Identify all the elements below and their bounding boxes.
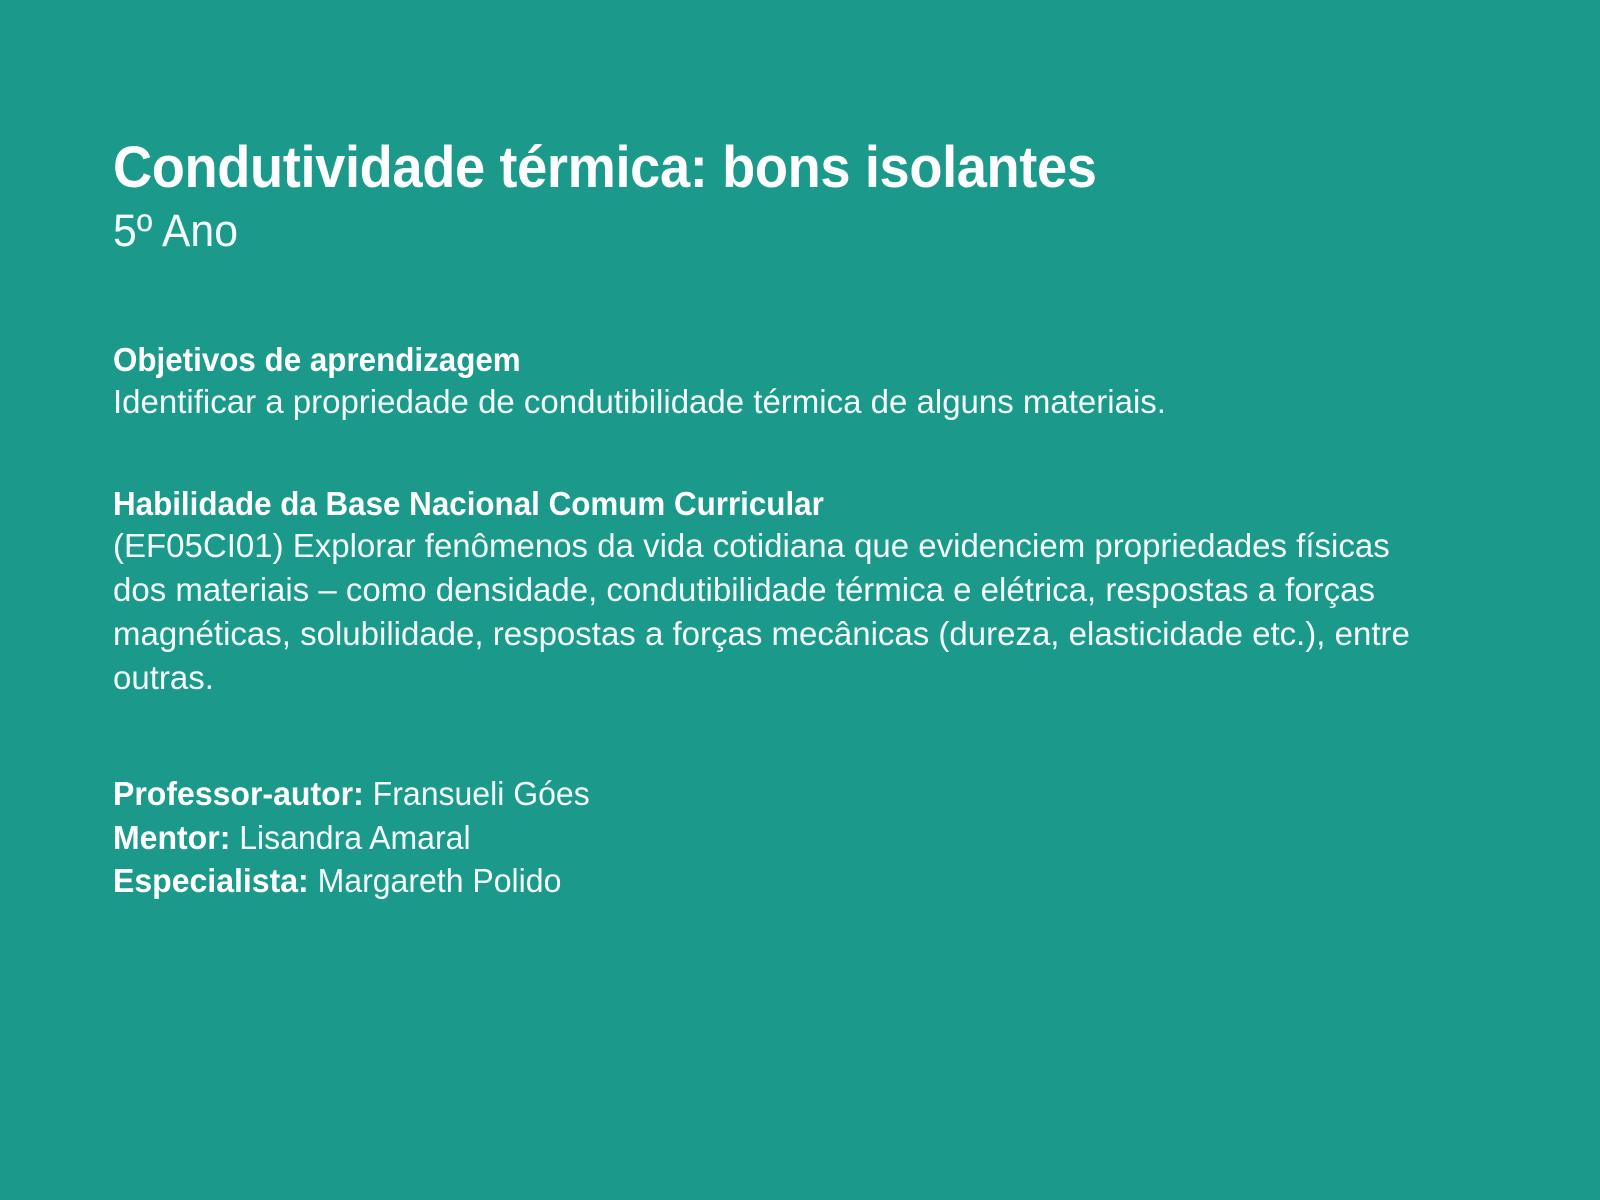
page-subtitle: 5º Ano — [113, 206, 1377, 256]
credit-value-professor-autor: Fransueli Góes — [373, 775, 590, 812]
credit-value-especialista: Margareth Polido — [318, 862, 562, 899]
credit-label-professor-autor: Professor-autor: — [113, 775, 364, 812]
credit-professor-autor: Professor-autor: Fransueli Góes — [113, 772, 1403, 816]
slide-content: Condutividade térmica: bons isolantes 5º… — [113, 139, 1443, 903]
credit-mentor: Mentor: Lisandra Amaral — [113, 816, 1403, 860]
section-body-habilidade: (EF05CI01) Explorar fenômenos da vida co… — [113, 524, 1423, 700]
credit-label-especialista: Especialista: — [113, 862, 309, 899]
section-heading-objetivos: Objetivos de aprendizagem — [113, 342, 1377, 379]
title-block: Condutividade térmica: bons isolantes 5º… — [113, 139, 1443, 256]
section-body-objetivos: Identificar a propriedade de condutibili… — [113, 380, 1423, 424]
credit-especialista: Especialista: Margareth Polido — [113, 859, 1403, 903]
credits-block: Professor-autor: Fransueli Góes Mentor: … — [113, 772, 1443, 904]
credit-label-mentor: Mentor: — [113, 819, 230, 856]
section-heading-habilidade: Habilidade da Base Nacional Comum Curric… — [113, 486, 1377, 523]
section-habilidade: Habilidade da Base Nacional Comum Curric… — [113, 486, 1443, 699]
credit-value-mentor: Lisandra Amaral — [239, 819, 470, 856]
page-title: Condutividade térmica: bons isolantes — [113, 139, 1357, 197]
slide: Condutividade térmica: bons isolantes 5º… — [0, 0, 1600, 1200]
section-objetivos: Objetivos de aprendizagem Identificar a … — [113, 342, 1443, 424]
